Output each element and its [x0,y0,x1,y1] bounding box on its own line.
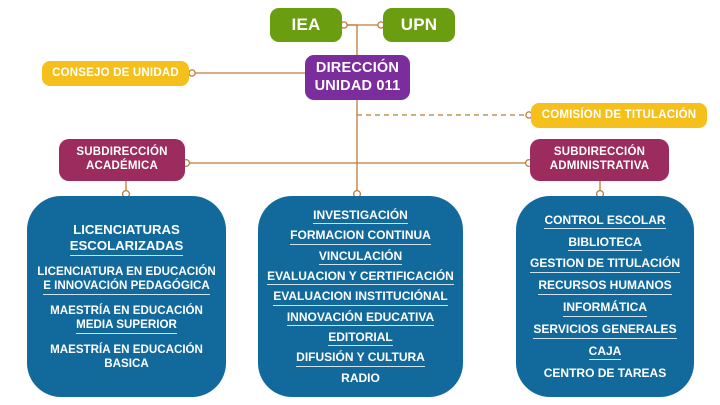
panel-item-line: VINCULACIÓN [319,249,402,263]
panel-item: INFORMÁTICA [524,300,686,314]
panel-item-line: DIFUSIÓN Y CULTURA [296,350,425,364]
panel-item-line: MEDIA SUPERIOR [76,318,177,332]
panel-item: INVESTIGACIÓN [266,208,455,222]
panel-item-line: CONTROL ESCOLAR [544,213,665,227]
panel-item: GESTION DE TITULACIÓN [524,256,686,270]
node-subdireccion-academica[interactable]: SUBDIRECCIÓN ACADÉMICA [59,139,185,181]
panel-item: MAESTRÍA EN EDUCACIÓNMEDIA SUPERIOR [35,304,218,332]
node-comision-label: COMISÍON DE TITULACIÓN [542,109,697,123]
node-direccion-line1: DIRECCIÓN [316,60,399,77]
panel-item: CONTROL ESCOLAR [524,213,686,227]
panel-item: VINCULACIÓN [266,249,455,263]
panel-item-line: RADIO [266,371,455,385]
node-direccion-line2: UNIDAD 011 [315,78,401,95]
node-upn[interactable]: UPN [383,8,455,42]
panel-item: RECURSOS HUMANOS [524,278,686,292]
panel-item: MAESTRÍA EN EDUCACIÓNBASICA [35,343,218,371]
panel-item: EVALUACION INSTITUCIÓNAL [266,289,455,303]
panel-item: RADIO [266,371,455,385]
node-subdireccion-administrativa[interactable]: SUBDIRECCIÓN ADMINISTRATIVA [530,139,669,181]
panel-item: INNOVACIÓN EDUCATIVA [266,310,455,324]
panel-item-line: EDITORIAL [328,330,392,344]
connector-dot-consejo [189,70,195,76]
panel-item-line: LICENCIATURAS [35,222,218,238]
node-iea[interactable]: IEA [270,8,342,42]
panel-item-line: BASICA [35,357,218,371]
panel-item-line: INNOVACIÓN EDUCATIVA [287,310,434,324]
node-sub-academica-line1: SUBDIRECCIÓN [76,146,167,160]
node-upn-label: UPN [401,15,438,35]
panel-areas-academicas: INVESTIGACIÓNFORMACION CONTINUAVINCULACI… [258,196,463,397]
panel-areas-administrativas: CONTROL ESCOLARBIBLIOTECAGESTION DE TITU… [516,196,694,397]
panel-item-line: INFORMÁTICA [563,300,647,314]
panel-item: EVALUACION Y CERTIFICACIÓN [266,269,455,283]
org-chart: IEA UPN DIRECCIÓN UNIDAD 011 CONSEJO DE … [0,0,720,405]
panel-item-line: GESTION DE TITULACIÓN [530,256,680,270]
panel-item-line: MAESTRÍA EN EDUCACIÓN [35,304,218,318]
panel-item-line: MAESTRÍA EN EDUCACIÓN [35,343,218,357]
node-consejo-label: CONSEJO DE UNIDAD [52,67,179,81]
panel-item: CENTRO DE TAREAS [524,366,686,380]
panel-item-line: CAJA [589,344,622,358]
panel-item-line: FORMACION CONTINUA [290,228,431,242]
panel-licenciaturas-escolarizadas: LICENCIATURASESCOLARIZADASLICENCIATURA E… [27,196,226,397]
panel-item-line: ESCOLARIZADAS [70,238,184,254]
panel-item: DIFUSIÓN Y CULTURA [266,350,455,364]
panel-item-line: SERVICIOS GENERALES [533,322,676,336]
panel-item-line: CENTRO DE TAREAS [524,366,686,380]
node-sub-administrativa-line1: SUBDIRECCIÓN [554,146,645,160]
node-comision-de-titulacion[interactable]: COMISÍON DE TITULACIÓN [531,103,707,128]
node-direccion-unidad[interactable]: DIRECCIÓN UNIDAD 011 [305,55,410,100]
panel-item: LICENCIATURASESCOLARIZADAS [35,222,218,254]
panel-item: LICENCIATURA EN EDUCACIÓNE INNOVACIÓN PE… [35,265,218,293]
panel-item-line: LICENCIATURA EN EDUCACIÓN [35,265,218,279]
panel-item-line: E INNOVACIÓN PEDAGÓGICA [43,279,210,293]
panel-item: BIBLIOTECA [524,235,686,249]
node-sub-academica-line2: ACADÉMICA [86,160,158,174]
node-iea-label: IEA [292,15,321,35]
node-consejo-de-unidad[interactable]: CONSEJO DE UNIDAD [42,61,189,86]
node-sub-administrativa-line2: ADMINISTRATIVA [550,160,649,174]
panel-item: SERVICIOS GENERALES [524,322,686,336]
panel-item-line: EVALUACION INSTITUCIÓNAL [273,289,447,303]
panel-item-line: EVALUACION Y CERTIFICACIÓN [267,269,454,283]
panel-item: EDITORIAL [266,330,455,344]
panel-item: CAJA [524,344,686,358]
panel-item-line: BIBLIOTECA [568,235,641,249]
panel-item: FORMACION CONTINUA [266,228,455,242]
panel-item-line: INVESTIGACIÓN [313,208,408,222]
panel-item-line: RECURSOS HUMANOS [538,278,671,292]
